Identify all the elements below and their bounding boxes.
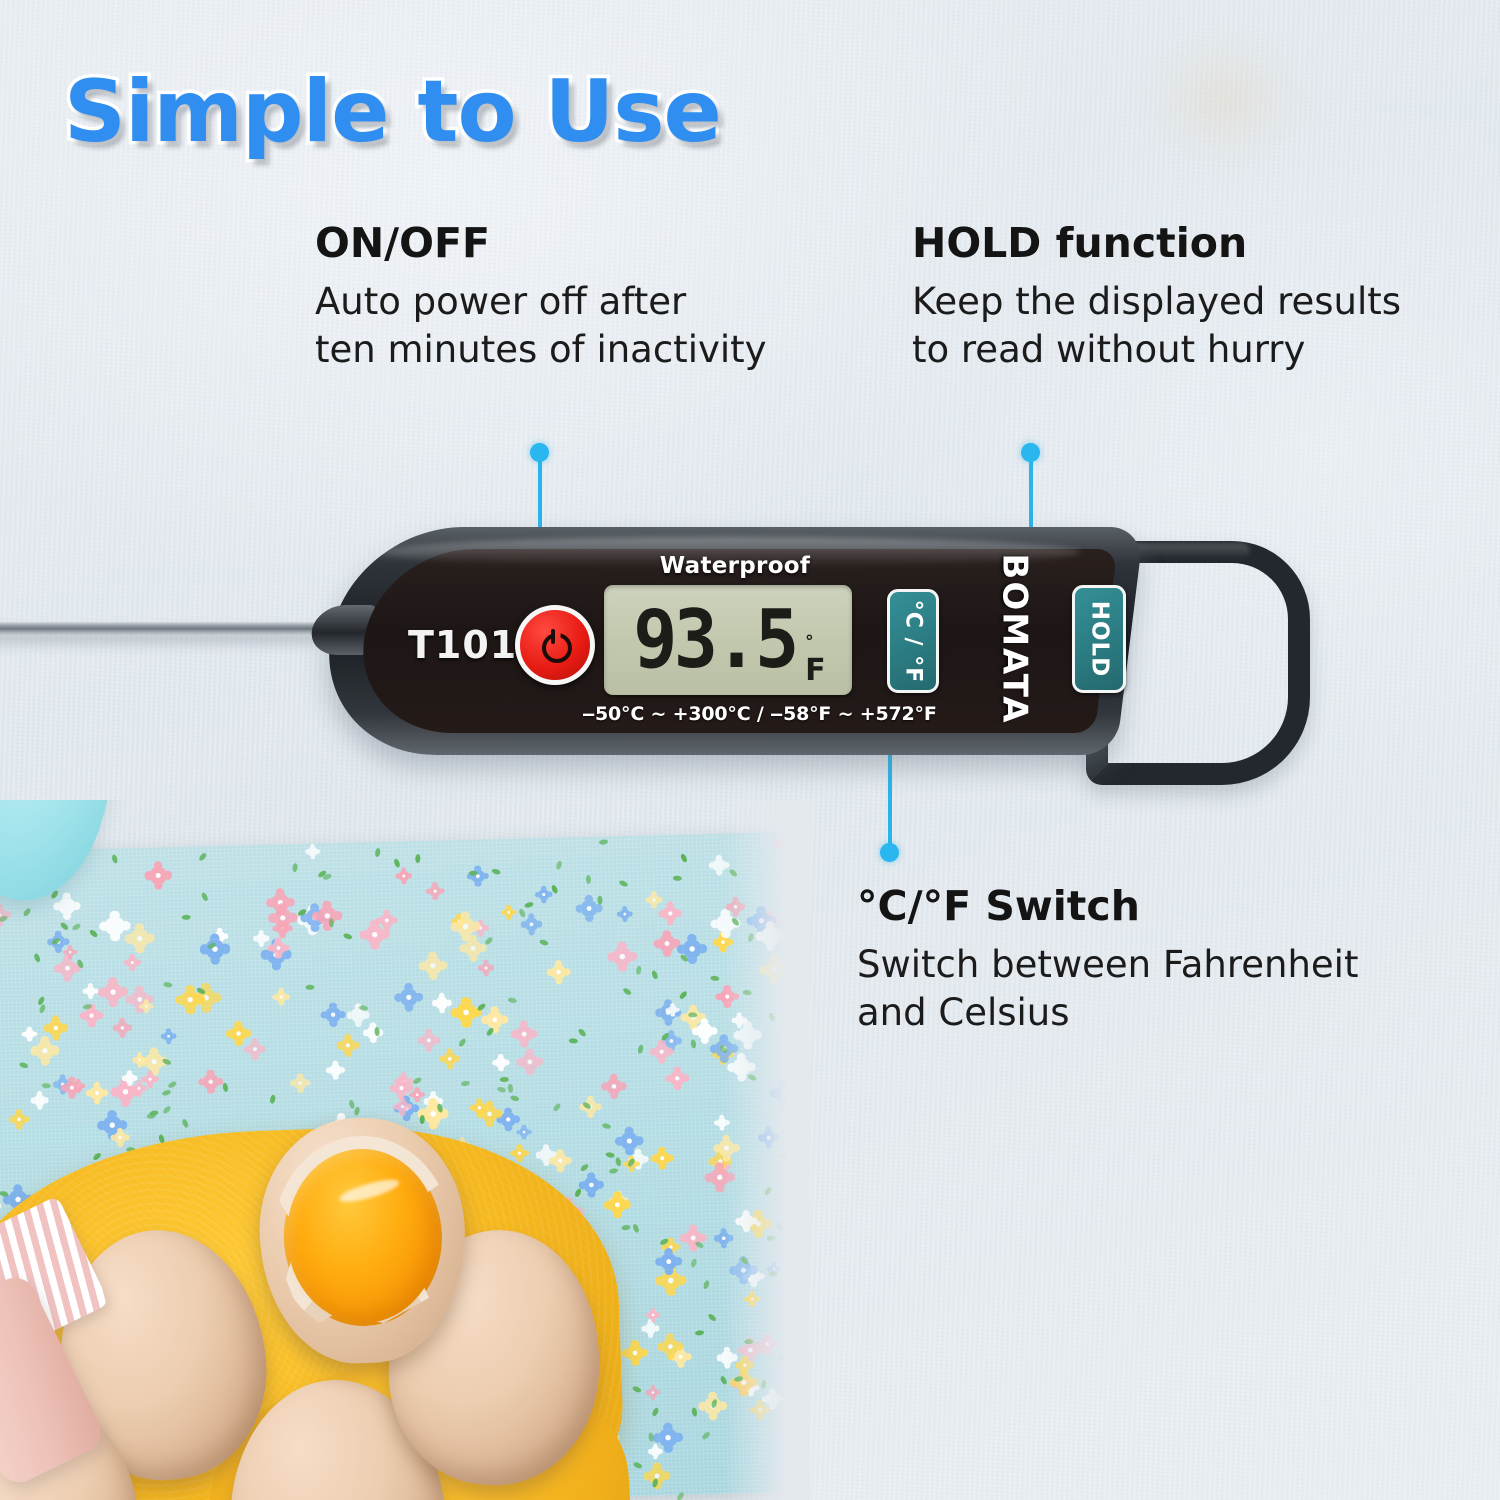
- callout-cf-line-1: Switch between Fahrenheit: [857, 941, 1358, 989]
- flower-motif: [613, 947, 632, 966]
- leaf-motif: [328, 918, 333, 927]
- infographic-canvas: Simple to Use ON/OFF Auto power off afte…: [0, 0, 1500, 1500]
- leaf-motif: [181, 914, 190, 919]
- flower-motif: [521, 1053, 538, 1070]
- lcd-display: 93.5 ° F: [604, 585, 852, 695]
- flower-motif: [34, 1095, 46, 1107]
- flower-motif: [399, 988, 418, 1007]
- flower-motif: [648, 1388, 658, 1398]
- flower-motif: [256, 933, 267, 944]
- flower-motif: [248, 1042, 262, 1056]
- leaf-motif: [585, 875, 591, 884]
- kitchen-photo: [0, 800, 810, 1500]
- callout-onoff-body: Auto power off after ten minutes of inac…: [315, 278, 767, 374]
- brand-label: BOMATA: [995, 553, 1035, 724]
- flower-motif: [609, 1196, 626, 1213]
- flower-motif: [495, 1057, 506, 1068]
- flower-motif: [524, 917, 538, 931]
- flower-motif: [396, 1100, 408, 1112]
- thermometer-probe: [0, 622, 362, 636]
- flower-motif: [644, 1323, 656, 1335]
- callout-onoff-line-1: Auto power off after: [315, 278, 767, 326]
- flower-motif: [655, 1151, 670, 1166]
- leaf-motif: [305, 984, 314, 989]
- callout-hold-body: Keep the displayed results to read witho…: [912, 278, 1401, 374]
- flower-motif: [501, 1112, 516, 1127]
- flower-motif: [105, 916, 125, 936]
- brand-logo: BOMATA: [950, 569, 1080, 709]
- temperature-range-label: ‒50°C ~ +300°C / ‒58°F ~ +572°F: [582, 703, 882, 725]
- flower-motif: [424, 957, 442, 975]
- flower-motif: [84, 1008, 99, 1023]
- flower-motif: [25, 1030, 34, 1039]
- lcd-unit-letter: F: [805, 653, 826, 688]
- callout-cf-switch: °C/°F Switch Switch between Fahrenheit a…: [857, 885, 1358, 1037]
- cf-button-label: °C / °F: [901, 599, 926, 683]
- celsius-fahrenheit-button[interactable]: °C / °F: [887, 589, 939, 693]
- flower-motif: [36, 1041, 55, 1060]
- photo-edge-fade: [724, 800, 810, 1500]
- lcd-unit: ° F: [805, 656, 826, 686]
- flower-motif: [48, 1020, 64, 1036]
- callout-cf-line-2: and Celsius: [857, 989, 1358, 1037]
- flower-motif: [514, 1147, 526, 1159]
- leader-dot-onoff: [530, 443, 549, 462]
- flower-motif: [329, 1064, 341, 1076]
- leader-dot-cf: [880, 843, 899, 862]
- lcd-degree-symbol: °: [805, 634, 814, 651]
- flower-motif: [325, 1007, 341, 1023]
- flower-motif: [651, 1447, 660, 1456]
- flower-motif: [539, 1148, 553, 1162]
- flower-motif: [412, 1090, 422, 1100]
- lcd-temperature-value: 93.5: [633, 600, 796, 680]
- flower-motif: [142, 1001, 151, 1010]
- callout-cf-heading: °C/°F Switch: [857, 885, 1358, 928]
- model-label: T101: [408, 623, 517, 667]
- flower-motif: [435, 996, 448, 1009]
- callout-onoff: ON/OFF Auto power off after ten minutes …: [315, 222, 767, 374]
- flower-motif: [584, 1177, 600, 1193]
- callout-hold-heading: HOLD function: [912, 222, 1401, 265]
- flower-motif: [12, 1113, 25, 1126]
- flower-motif: [149, 866, 167, 884]
- hold-button-label: HOLD: [1086, 601, 1112, 678]
- flower-motif: [125, 1073, 135, 1083]
- flower-motif: [654, 1044, 669, 1059]
- leaf-motif: [42, 1082, 51, 1088]
- leader-dot-hold: [1021, 443, 1040, 462]
- flower-motif: [272, 941, 286, 955]
- leaf-motif: [673, 875, 682, 881]
- flower-motif: [127, 957, 138, 968]
- flower-motif: [308, 847, 317, 856]
- waterproof-label: Waterproof: [620, 553, 850, 579]
- hold-button[interactable]: HOLD: [1072, 585, 1126, 693]
- callout-hold-line-2: to read without hurry: [912, 326, 1401, 374]
- flower-motif: [399, 871, 410, 882]
- flower-motif: [659, 935, 676, 952]
- leaf-motif: [694, 1329, 704, 1335]
- flower-motif: [648, 894, 659, 905]
- flower-motif: [340, 1038, 355, 1053]
- callout-onoff-heading: ON/OFF: [315, 222, 767, 265]
- flower-motif: [294, 1077, 307, 1090]
- leaf-motif: [597, 895, 602, 904]
- leaf-motif: [507, 1084, 513, 1093]
- callout-cf-body: Switch between Fahrenheit and Celsius: [857, 941, 1358, 1037]
- flower-motif: [164, 1032, 174, 1042]
- callout-hold-line-1: Keep the displayed results: [912, 278, 1401, 326]
- flower-motif: [480, 963, 490, 973]
- flower-motif: [203, 1074, 219, 1090]
- flower-motif: [504, 907, 514, 917]
- flower-motif: [113, 1131, 126, 1144]
- leaf-motif: [146, 1113, 155, 1118]
- power-button[interactable]: [515, 605, 595, 685]
- flower-motif: [619, 909, 629, 919]
- background-smudge: [1180, 70, 1270, 130]
- digital-thermometer: T101 Waterproof 93.5 ° F ‒50°C ~ +300°C …: [330, 527, 1320, 767]
- leaf-motif: [688, 1012, 697, 1017]
- callout-hold: HOLD function Keep the displayed results…: [912, 222, 1401, 374]
- page-title: Simple to Use: [64, 62, 721, 162]
- flower-motif: [231, 1026, 247, 1042]
- flower-motif: [135, 1055, 144, 1064]
- callout-onoff-line-2: ten minutes of inactivity: [315, 326, 767, 374]
- flower-motif: [130, 929, 149, 948]
- power-icon: [540, 630, 570, 660]
- flower-motif: [273, 909, 292, 928]
- flower-motif: [620, 1131, 638, 1149]
- flower-motif: [365, 925, 385, 945]
- flower-motif: [627, 1345, 644, 1362]
- flower-motif: [519, 1127, 529, 1137]
- flower-motif: [456, 1003, 476, 1023]
